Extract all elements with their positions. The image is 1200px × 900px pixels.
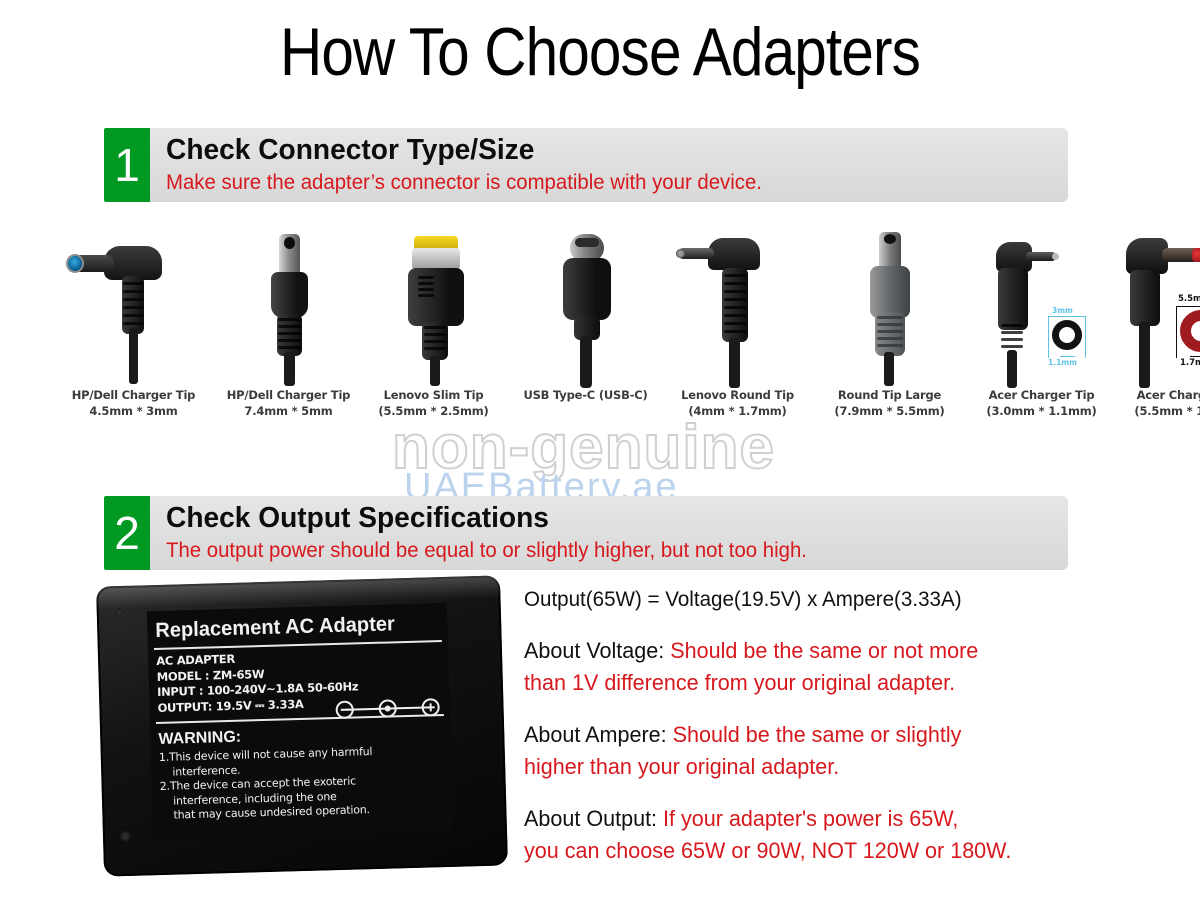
- about-voltage-line2: than 1V difference from your original ad…: [524, 670, 955, 695]
- connector-label-line2: (3.0mm * 1.1mm): [974, 404, 1109, 420]
- connector-label-line1: HP/Dell Charger Tip: [227, 388, 350, 402]
- about-output-label: About Output:: [524, 806, 663, 831]
- ac-adapter-image: Replacement AC Adapter AC ADAPTER MODEL …: [92, 573, 512, 885]
- section-2-text: Check Output Specifications The output p…: [150, 496, 1068, 570]
- usb-type-c-icon: [518, 228, 653, 388]
- connector-label-line1: Lenovo Slim Tip: [384, 388, 484, 402]
- adapter-screw-icon: [115, 608, 124, 617]
- round-tip-large-icon: [822, 228, 957, 388]
- about-ampere-block: About Ampere: Should be the same or slig…: [524, 719, 1184, 783]
- section-2-header: 2 Check Output Specifications The output…: [104, 496, 1068, 570]
- connector-label-line1: Lenovo Round Tip: [681, 388, 794, 402]
- connector-label-line2: 7.4mm * 5mm: [221, 404, 356, 420]
- section-1-title: Check Connector Type/Size: [166, 135, 1041, 166]
- about-output-line2: you can choose 65W or 90W, NOT 120W or 1…: [524, 838, 1011, 863]
- connector-label: Acer Charger Tip (5.5mm * 1.7mm): [1122, 388, 1200, 419]
- acer-large-inner-dim: 1.7mm: [1180, 358, 1200, 368]
- connector-label-line2: (7.9mm * 5.5mm): [822, 404, 957, 420]
- connector-item-lenovo-round[interactable]: Lenovo Round Tip (4mm * 1.7mm): [670, 228, 805, 419]
- acer-small-inner-dim: 1.1mm: [1048, 358, 1077, 367]
- connector-label-line1: Round Tip Large: [838, 388, 941, 402]
- connector-label: USB Type-C (USB-C): [518, 388, 653, 404]
- connector-label-line2: (5.5mm * 1.7mm): [1122, 404, 1200, 420]
- section-1-text: Check Connector Type/Size Make sure the …: [150, 128, 1068, 202]
- acer-small-dimension-diagram: 3mm 1.1mm: [1036, 306, 1098, 368]
- section-1-header: 1 Check Connector Type/Size Make sure th…: [104, 128, 1068, 202]
- connector-label-line2: 4.5mm * 3mm: [66, 404, 201, 420]
- infographic-page: How To Choose Adapters 1 Check Connector…: [0, 0, 1200, 900]
- adapter-screw-icon: [121, 832, 130, 841]
- connector-label: Lenovo Round Tip (4mm * 1.7mm): [670, 388, 805, 419]
- connector-label-line1: USB Type-C (USB-C): [523, 388, 647, 402]
- about-output-line1: If your adapter's power is 65W,: [663, 806, 958, 831]
- about-ampere-line2: higher than your original adapter.: [524, 754, 839, 779]
- connector-label: Lenovo Slim Tip (5.5mm * 2.5mm): [366, 388, 501, 419]
- adapter-warning-list: 1.This device will not cause any harmful…: [151, 742, 453, 824]
- connector-label: Round Tip Large (7.9mm * 5.5mm): [822, 388, 957, 419]
- acer-charger-tip-small-icon: 3mm 1.1mm: [974, 228, 1109, 388]
- polarity-symbol-icon: [335, 698, 439, 719]
- page-title: How To Choose Adapters: [84, 10, 1116, 94]
- output-spec-text: Output(65W) = Voltage(19.5V) x Ampere(3.…: [524, 585, 1184, 867]
- acer-large-dimension-diagram: 5.5mm 1.7mm: [1166, 294, 1200, 374]
- section-1-subtitle: Make sure the adapter’s connector is com…: [166, 169, 1041, 196]
- connector-label: HP/Dell Charger Tip 7.4mm * 5mm: [221, 388, 356, 419]
- hp-dell-barrel-tip-icon: [221, 228, 356, 388]
- connector-label-line1: Acer Charger Tip: [1137, 388, 1200, 402]
- lenovo-round-tip-icon: [670, 228, 805, 388]
- connector-label-line1: Acer Charger Tip: [989, 388, 1095, 402]
- connector-label-line2: (4mm * 1.7mm): [670, 404, 805, 420]
- adapter-label-plate: Replacement AC Adapter AC ADAPTER MODEL …: [147, 603, 453, 839]
- connector-item-acer-large[interactable]: 5.5mm 1.7mm Acer Charger Tip (5.5mm * 1.…: [1122, 228, 1200, 419]
- connector-label-line1: HP/Dell Charger Tip: [72, 388, 195, 402]
- about-voltage-line1: Should be the same or not more: [670, 638, 978, 663]
- acer-small-outer-dim: 3mm: [1052, 306, 1073, 315]
- about-output-block: About Output: If your adapter's power is…: [524, 803, 1184, 867]
- about-voltage-block: About Voltage: Should be the same or not…: [524, 635, 1184, 699]
- about-ampere-line1: Should be the same or slightly: [673, 722, 962, 747]
- section-2-number: 2: [104, 496, 150, 570]
- connector-item-usb-c[interactable]: USB Type-C (USB-C): [518, 228, 653, 404]
- section-2-subtitle: The output power should be equal to or s…: [166, 537, 1041, 564]
- about-ampere-label: About Ampere:: [524, 722, 673, 747]
- lenovo-slim-tip-icon: [366, 228, 501, 388]
- connector-label: Acer Charger Tip (3.0mm * 1.1mm): [974, 388, 1109, 419]
- output-equation: Output(65W) = Voltage(19.5V) x Ampere(3.…: [524, 585, 1171, 615]
- hp-dell-blue-tip-icon: [66, 228, 201, 388]
- acer-charger-tip-large-icon: 5.5mm 1.7mm: [1122, 228, 1200, 388]
- section-1-number: 1: [104, 128, 150, 202]
- section-2-title: Check Output Specifications: [166, 503, 1041, 534]
- about-voltage-label: About Voltage:: [524, 638, 670, 663]
- connector-label-line2: (5.5mm * 2.5mm): [366, 404, 501, 420]
- connector-item-lenovo-slim[interactable]: Lenovo Slim Tip (5.5mm * 2.5mm): [366, 228, 501, 419]
- connector-label: HP/Dell Charger Tip 4.5mm * 3mm: [66, 388, 201, 419]
- connector-gallery: HP/Dell Charger Tip 4.5mm * 3mm HP/Dell …: [66, 228, 1146, 438]
- connector-item-hp-dell-blue[interactable]: HP/Dell Charger Tip 4.5mm * 3mm: [66, 228, 201, 419]
- connector-item-round-large[interactable]: Round Tip Large (7.9mm * 5.5mm): [822, 228, 957, 419]
- connector-item-hp-dell-barrel[interactable]: HP/Dell Charger Tip 7.4mm * 5mm: [221, 228, 356, 419]
- adapter-label-title: Replacement AC Adapter: [147, 607, 442, 645]
- adapter-label-specs: AC ADAPTER MODEL : ZM-65W INPUT : 100-24…: [148, 646, 450, 716]
- acer-large-outer-dim: 5.5mm: [1178, 294, 1200, 304]
- connector-item-acer-small[interactable]: 3mm 1.1mm Acer Charger Tip (3.0mm * 1.1m…: [974, 228, 1109, 419]
